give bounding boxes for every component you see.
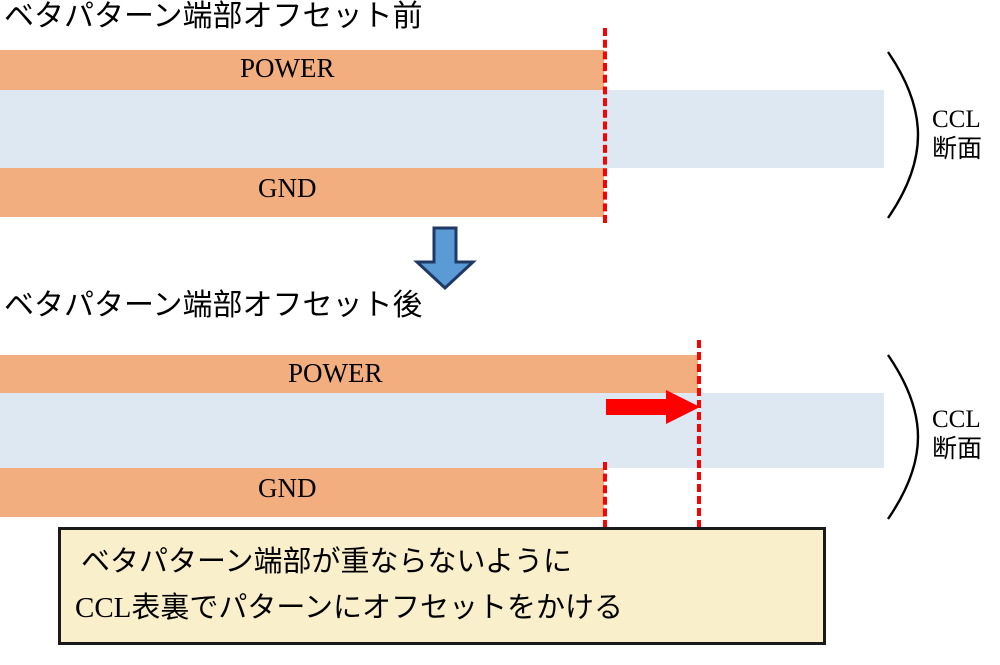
- brace-icon: [884, 353, 924, 521]
- after-ccl-label-line2: 断面: [932, 435, 982, 465]
- caption-box: ベタパターン端部が重ならないように CCL表裏でパターンにオフセットをかける: [58, 527, 826, 645]
- before-ccl-label-line1: CCL: [932, 105, 982, 135]
- after-ccl-label: CCL 断面: [932, 405, 982, 464]
- before-power-label: POWER: [240, 55, 335, 82]
- before-gnd-label: GND: [258, 175, 317, 202]
- after-core-layer: [0, 393, 884, 468]
- section-title-before: ベタパターン端部オフセット前: [4, 2, 423, 32]
- after-power-label: POWER: [288, 360, 383, 387]
- caption-line-2: CCL表裏でパターンにオフセットをかける: [75, 594, 623, 623]
- right-arrow-icon: [606, 390, 700, 424]
- diagram-canvas: ベタパターン端部オフセット前 POWER GND CCL 断面 ベタパターン端部…: [0, 0, 1000, 665]
- after-power-edge-marker-line: [697, 340, 701, 528]
- down-arrow-icon: [413, 226, 477, 290]
- after-ccl-label-line1: CCL: [932, 405, 982, 435]
- before-core-layer: [0, 90, 884, 168]
- after-ccl-brace-icon: [884, 353, 924, 521]
- before-ccl-label-line2: 断面: [932, 135, 982, 165]
- after-gnd-edge-marker-line: [603, 462, 607, 528]
- brace-icon: [884, 50, 924, 220]
- transition-down-arrow-icon: [413, 226, 477, 290]
- before-ccl-brace-icon: [884, 50, 924, 220]
- before-edge-marker-line: [603, 28, 607, 223]
- caption-line-1: ベタパターン端部が重ならないように: [81, 548, 572, 577]
- section-title-after: ベタパターン端部オフセット後: [4, 291, 423, 321]
- offset-right-arrow-icon: [606, 390, 700, 424]
- after-gnd-label: GND: [258, 475, 317, 502]
- before-ccl-label: CCL 断面: [932, 105, 982, 164]
